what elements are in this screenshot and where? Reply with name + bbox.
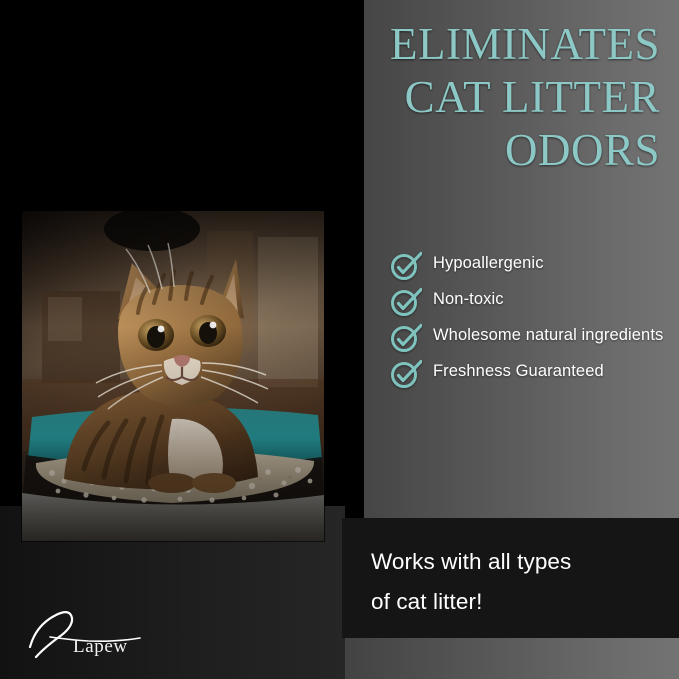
callout-text: Works with all types of cat litter! [371, 542, 671, 622]
feature-item-non-toxic: Non-toxic [390, 286, 670, 317]
check-circle-icon [390, 323, 422, 353]
feature-item-freshness-guaranteed: Freshness Guaranteed [390, 358, 670, 389]
feature-list: Hypoallergenic Non-toxic Wholesome natur… [390, 250, 670, 394]
headline-line-2: CAT LITTER [240, 71, 660, 124]
page-title: ELIMINATES CAT LITTER ODORS [240, 18, 660, 177]
feature-label: Freshness Guaranteed [433, 358, 604, 384]
headline-line-1: ELIMINATES [240, 18, 660, 71]
callout-line-2: of cat litter! [371, 582, 671, 622]
check-circle-icon [390, 359, 422, 389]
kitten-in-litter-box-photo [22, 211, 324, 541]
callout-line-1: Works with all types [371, 542, 671, 582]
headline-line-3: ODORS [240, 124, 660, 177]
product-poster: ELIMINATES CAT LITTER ODORS Hypoallergen… [0, 0, 679, 679]
feature-item-hypoallergenic: Hypoallergenic [390, 250, 670, 281]
feature-label: Non-toxic [433, 286, 504, 312]
check-circle-icon [390, 251, 422, 281]
callout-box: Works with all types of cat litter! [342, 518, 679, 638]
feature-item-wholesome-natural-ingredients: Wholesome natural ingredients [390, 322, 670, 353]
brand-name: Lapew [73, 636, 128, 658]
feature-label: Wholesome natural ingredients [433, 322, 663, 348]
feature-label: Hypoallergenic [433, 250, 544, 276]
brand-logo: Lapew [26, 607, 146, 663]
check-circle-icon [390, 287, 422, 317]
